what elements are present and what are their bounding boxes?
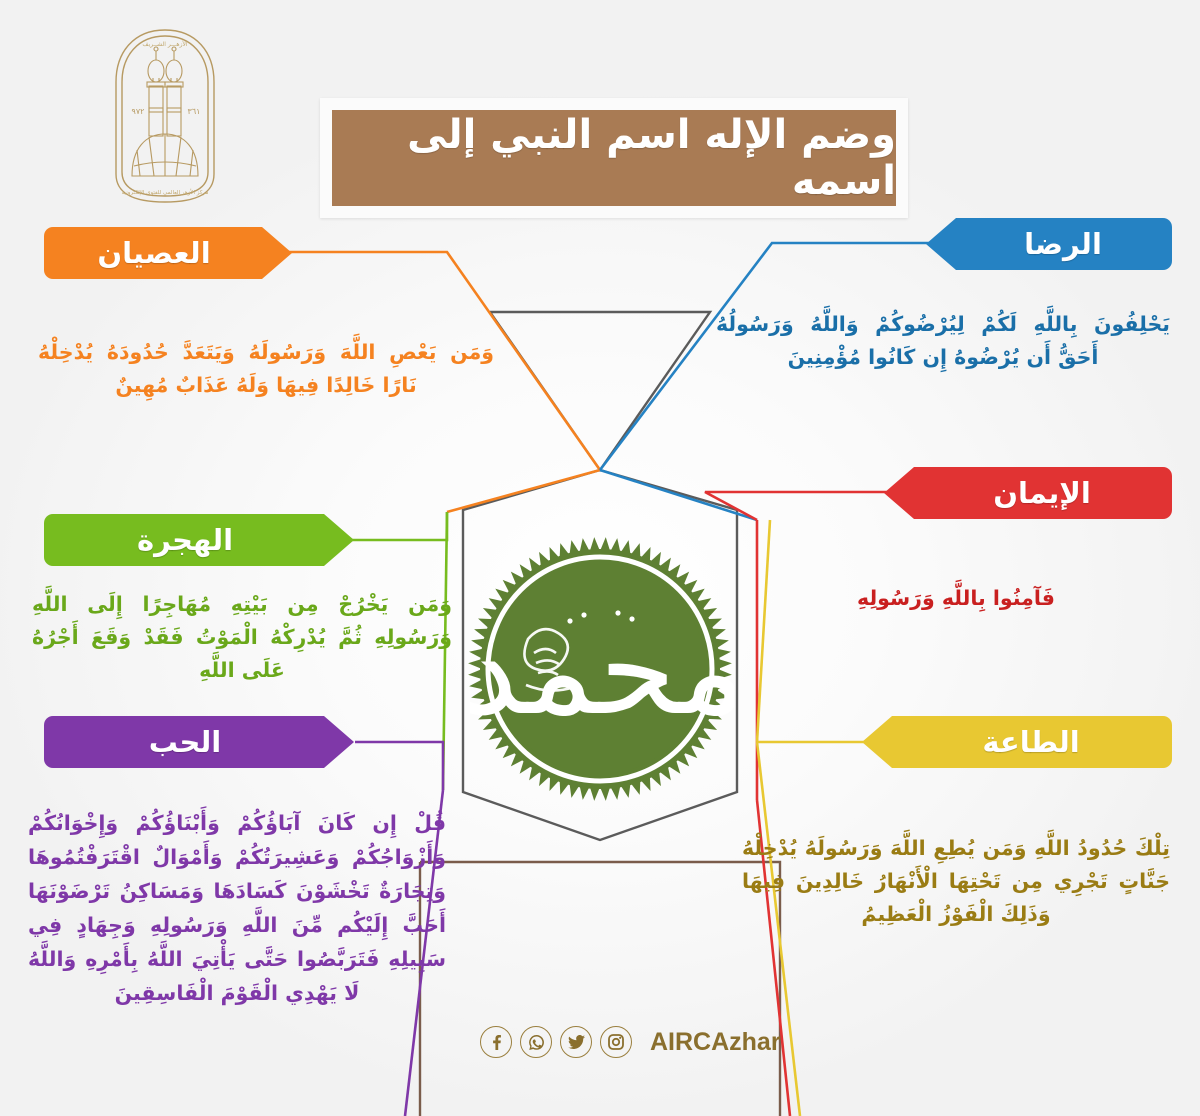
verse-taa: تِلْكَ حُدُودُ اللَّهِ وَمَن يُطِعِ اللَ… — [742, 832, 1170, 932]
chip-ridaa[interactable]: الرضا — [926, 218, 1172, 270]
social-handle: AIRCAzhar — [650, 1028, 781, 1057]
chip-taa[interactable]: الطاعة — [862, 716, 1172, 768]
infographic-canvas: ٩٧٢ ٣٦١ الأزهـــر الشــريف مركز الأزهر ا… — [0, 0, 1200, 1116]
svg-text:الأزهـــر الشــريف: الأزهـــر الشــريف — [142, 40, 188, 48]
chip-isyan-label: العصيان — [97, 236, 210, 270]
chip-hubb-label: الحب — [149, 725, 221, 759]
seal-calligraphy-text: محمد — [466, 599, 734, 743]
verse-hijra: وَمَن يَخْرُجْ مِن بَيْتِهِ مُهَاجِرًا إ… — [32, 588, 452, 688]
twitter-icon[interactable] — [560, 1026, 592, 1058]
chip-ridaa-label: الرضا — [1024, 227, 1102, 261]
al-azhar-logo: ٩٧٢ ٣٦١ الأزهـــر الشــريف مركز الأزهر ا… — [104, 24, 226, 208]
chip-iman[interactable]: الإيمان — [884, 467, 1172, 519]
muhammad-calligraphy-seal: محمد — [466, 535, 734, 803]
chip-isyan[interactable]: العصيان — [44, 227, 292, 279]
chip-hijra[interactable]: الهجرة — [44, 514, 354, 566]
chip-hubb[interactable]: الحب — [44, 716, 354, 768]
logo-year-right: ٣٦١ — [188, 107, 201, 116]
verse-iman: فَآمِنُوا بِاللَّهِ وَرَسُولِهِ — [744, 582, 1168, 615]
verse-ridaa: يَحْلِفُونَ بِاللَّهِ لَكُمْ لِيُرْضُوكُ… — [716, 308, 1170, 374]
verse-hubb: قُلْ إِن كَانَ آبَاؤُكُمْ وَأَبْنَاؤُكُم… — [28, 806, 446, 1010]
facebook-icon[interactable] — [480, 1026, 512, 1058]
svg-text:مركز الأزهر العالمي للفتوى الإ: مركز الأزهر العالمي للفتوى الإلكترونية — [122, 188, 209, 196]
whatsapp-icon[interactable] — [520, 1026, 552, 1058]
verse-isyan: وَمَن يَعْصِ اللَّهَ وَرَسُولَهُ وَيَتَع… — [38, 336, 494, 402]
chip-taa-label: الطاعة — [982, 725, 1079, 759]
title-card: وضم الإله اسم النبي إلى اسمه — [320, 98, 908, 218]
social-bar[interactable]: AIRCAzhar — [480, 1026, 781, 1058]
chip-iman-label: الإيمان — [993, 476, 1091, 510]
logo-year-left: ٩٧٢ — [132, 107, 145, 116]
page-title: وضم الإله اسم النبي إلى اسمه — [332, 110, 896, 206]
chip-hijra-label: الهجرة — [137, 523, 233, 557]
instagram-icon[interactable] — [600, 1026, 632, 1058]
